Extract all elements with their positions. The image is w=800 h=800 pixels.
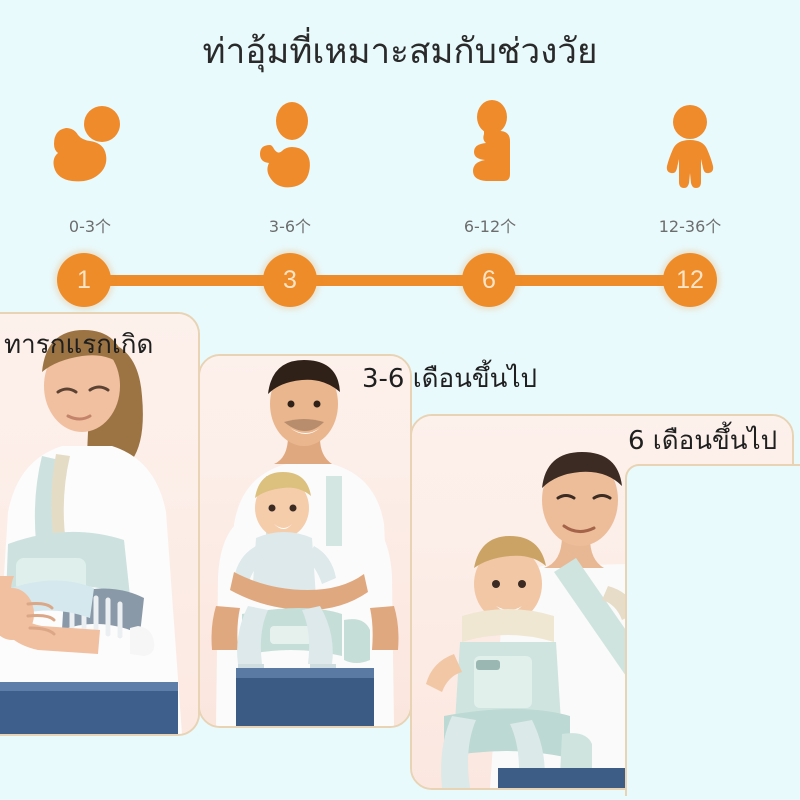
baby-lying-icon: [0, 100, 180, 190]
timeline-node-1[interactable]: 1: [57, 253, 111, 307]
photo-mother-newborn-carrier: [0, 314, 198, 734]
photo-panel-newborn[interactable]: [0, 312, 200, 736]
baby-carrier-age-infographic: ท่าอุ้มที่เหมาะสมกับช่วงวัย: [0, 0, 800, 800]
page-title: ท่าอุ้มที่เหมาะสมกับช่วงวัย: [0, 30, 800, 74]
baby-sitting-icon: [400, 100, 580, 190]
caption-three-to-six: 3-6 เดือนขึ้นไป: [362, 362, 537, 396]
baby-reclined-sitting-icon: [200, 100, 380, 190]
panel-six-plus-cutout: [625, 464, 800, 796]
age-label-1: 3-6个: [200, 216, 380, 238]
stage-icons-row: [0, 100, 800, 190]
timeline-node-12[interactable]: 12: [663, 253, 717, 307]
timeline-node-3[interactable]: 3: [263, 253, 317, 307]
stage-icon-cell-3: [600, 100, 780, 190]
baby-standing-icon: [600, 100, 780, 190]
age-labels-row: 0-3个 3-6个 6-12个 12-36个: [0, 216, 800, 242]
timeline-node-6[interactable]: 6: [462, 253, 516, 307]
stage-icon-cell-1: [200, 100, 380, 190]
caption-six-plus: 6 เดือนขึ้นไป: [628, 424, 777, 458]
photo-father-baby-front-carrier: [200, 356, 410, 726]
age-label-3: 12-36个: [600, 216, 780, 238]
age-timeline: 1 3 6 12: [0, 253, 800, 309]
stage-icon-cell-2: [400, 100, 580, 190]
stage-icon-cell-0: [0, 100, 180, 190]
photo-panel-three-to-six[interactable]: [198, 354, 412, 728]
caption-newborn: ทารกแรกเกิด: [4, 328, 153, 362]
age-label-0: 0-3个: [0, 216, 180, 238]
timeline-track: [79, 275, 690, 286]
age-label-2: 6-12个: [400, 216, 580, 238]
